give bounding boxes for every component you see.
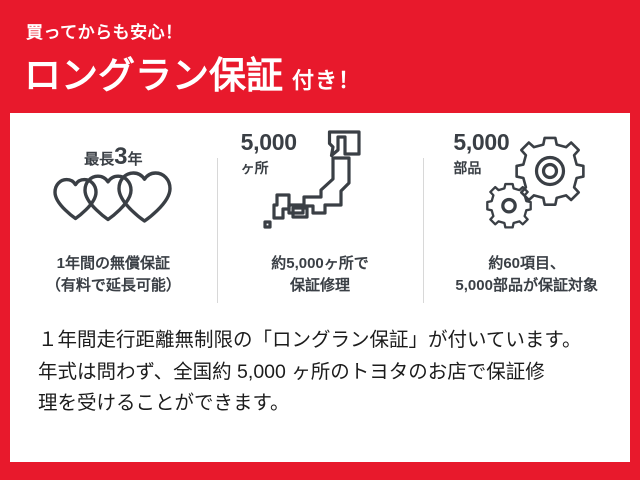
feature-visual-gears: 5,000 部品 xyxy=(423,113,630,253)
longrun-warranty-banner: 買ってからも安心！ ロングラン保証 付き！ 最長3年 xyxy=(0,0,640,480)
feature-covered-parts: 5,000 部品 約60項目、 5,000部品が保証対象 xyxy=(423,113,630,318)
feature-heading-locations: 5,000 ヶ所 xyxy=(241,131,297,175)
feature-service-locations: 5,000 ヶ所 約5,000ヶ所で 保証修理 xyxy=(217,113,424,318)
heading-number: 5,000 xyxy=(453,131,509,154)
feature-list: 最長3年 1年間の無償保証 xyxy=(10,113,630,318)
header-title-suffix: 付き！ xyxy=(292,70,361,92)
body-line-1: １年間走行距離無制限の「ロングラン保証」が付いています。 xyxy=(38,325,606,357)
feature-warranty-period: 最長3年 1年間の無償保証 xyxy=(10,113,217,318)
heading-suffix: 年 xyxy=(128,151,143,168)
caption-line-2: （有料で延長可能） xyxy=(46,275,181,297)
caption-line-1: 約60項目、 xyxy=(455,253,598,275)
body-description: １年間走行距離無制限の「ロングラン保証」が付いています。 年式は問わず、全国約 … xyxy=(38,325,606,420)
header-title: ロングラン保証 付き！ xyxy=(24,57,361,94)
feature-heading-parts: 5,000 部品 xyxy=(453,131,509,175)
three-hearts-icon xyxy=(51,171,175,228)
body-line-3: 理を受けることができます。 xyxy=(38,388,606,420)
banner-header: 買ってからも安心！ ロングラン保証 付き！ xyxy=(0,0,640,113)
content-panel: 最長3年 1年間の無償保証 xyxy=(10,113,630,462)
heading-number: 3 xyxy=(114,143,127,170)
feature-caption-service-locations: 約5,000ヶ所で 保証修理 xyxy=(271,253,369,297)
caption-line-2: 5,000部品が保証対象 xyxy=(455,275,598,297)
header-title-main: ロングラン保証 xyxy=(24,57,283,94)
caption-line-2: 保証修理 xyxy=(271,275,369,297)
caption-line-1: 1年間の無償保証 xyxy=(46,253,181,275)
feature-caption-warranty-period: 1年間の無償保証 （有料で延長可能） xyxy=(46,253,181,297)
body-line-2: 年式は問わず、全国約 5,000 ヶ所のトヨタのお店で保証修 xyxy=(38,357,606,389)
feature-visual-japan-map: 5,000 ヶ所 xyxy=(217,113,424,253)
caption-line-1: 約5,000ヶ所で xyxy=(271,253,369,275)
feature-caption-covered-parts: 約60項目、 5,000部品が保証対象 xyxy=(455,253,598,297)
heading-number: 5,000 xyxy=(241,131,297,154)
header-kicker: 買ってからも安心！ xyxy=(26,24,183,41)
heading-unit: 部品 xyxy=(453,161,509,175)
heading-prefix: 最長 xyxy=(84,151,114,168)
feature-visual-hearts: 最長3年 xyxy=(10,113,217,253)
feature-heading-period: 最長3年 xyxy=(10,145,217,169)
heading-unit: ヶ所 xyxy=(241,161,297,175)
